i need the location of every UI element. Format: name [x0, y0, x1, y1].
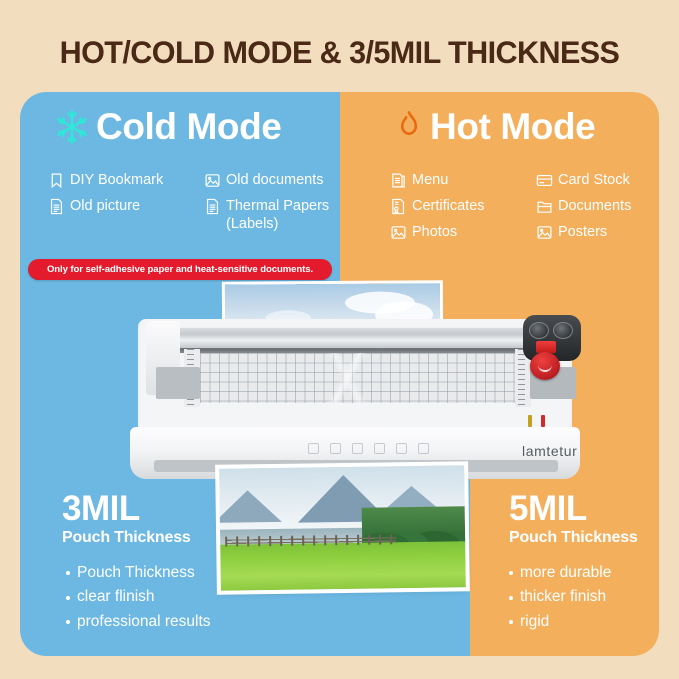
list-item-label: Thermal Papers (Labels) [226, 197, 329, 234]
panel-icon-3 [352, 443, 363, 454]
list-item-label: Old picture [70, 197, 140, 215]
landscape-photo-sheet [219, 465, 466, 590]
bullet-dot-icon [66, 620, 70, 624]
list-item-label: Posters [558, 223, 607, 241]
hot-mode-title: Hot Mode [430, 108, 595, 145]
list-item: Card Stock [536, 168, 659, 192]
hot-mode-header: Hot Mode [394, 108, 595, 145]
photo-meadow [220, 541, 466, 591]
list-item: professional results [66, 610, 211, 634]
infographic-root: HOT/COLD MODE & 3/5MIL THICKNESS Cold Mo… [0, 0, 679, 679]
list-item-label: thicker finish [520, 585, 606, 609]
modes-panel: Cold Mode DIY Bookmark Old documents O [20, 92, 659, 656]
list-item: rigid [509, 610, 638, 634]
red-rotary-knob[interactable] [530, 352, 560, 380]
stacked-pages-icon [390, 172, 407, 190]
list-item: Posters [536, 220, 659, 244]
cutter-dial-left-icon [529, 322, 549, 339]
cold-mode-header: Cold Mode [54, 108, 281, 145]
photo-mountain-left [219, 490, 282, 523]
brand-logo: lamtetur [522, 443, 577, 459]
image-icon [536, 224, 553, 242]
laminator-body: lamtetur [130, 319, 580, 479]
document-lines-icon [204, 198, 221, 216]
left-tray [156, 367, 200, 399]
card-icon [536, 172, 553, 190]
list-item: DIY Bookmark [48, 168, 198, 192]
list-item: Menu [390, 168, 530, 192]
page-title: HOT/COLD MODE & 3/5MIL THICKNESS [10, 34, 669, 71]
list-item: Thermal Papers (Labels) [204, 194, 354, 236]
folder-icon [536, 198, 553, 216]
list-item-label: DIY Bookmark [70, 171, 163, 189]
cutter-dial-right-icon [553, 322, 573, 339]
panel-icon-2 [330, 443, 341, 454]
list-item: Old documents [204, 168, 354, 192]
cold-mode-item-list: DIY Bookmark Old documents Old picture T… [48, 168, 348, 236]
list-item-label: Menu [412, 171, 448, 189]
cutting-grid-mat [200, 353, 515, 403]
list-item: Old picture [48, 194, 198, 236]
panel-icon-5 [396, 443, 407, 454]
certificate-icon [390, 198, 407, 216]
panel-icon-4 [374, 443, 385, 454]
image-icon [204, 172, 221, 190]
bookmark-icon [48, 172, 65, 190]
list-item: Documents [536, 194, 659, 218]
cutter-rail [164, 328, 564, 350]
list-item-label: Certificates [412, 197, 485, 215]
list-item-label: Old documents [226, 171, 324, 189]
image-icon [390, 224, 407, 242]
list-item: clear flinish [66, 585, 211, 609]
led-power-icon [541, 415, 545, 427]
flame-icon [394, 110, 424, 144]
list-item: thicker finish [509, 585, 638, 609]
list-item-label: clear flinish [77, 585, 155, 609]
snowflake-icon [54, 109, 90, 145]
laminator-deck [138, 319, 572, 437]
list-item-label: Card Stock [558, 171, 630, 189]
led-ready-icon [528, 415, 532, 427]
panel-icon-6 [418, 443, 429, 454]
list-item-label: rigid [520, 610, 549, 634]
bullet-dot-icon [509, 620, 513, 624]
cold-mode-title: Cold Mode [96, 108, 281, 145]
document-lines-icon [48, 198, 65, 216]
list-item-label: Photos [412, 223, 457, 241]
list-item: Certificates [390, 194, 530, 218]
bullet-dot-icon [66, 596, 70, 600]
cold-mode-warning-banner: Only for self-adhesive paper and heat-se… [28, 259, 332, 280]
bullet-dot-icon [509, 596, 513, 600]
panel-icon-1 [308, 443, 319, 454]
hot-mode-item-list: Menu Card Stock Certificates Documents [390, 168, 659, 244]
list-item: Photos [390, 220, 530, 244]
bullet-dot-icon [66, 571, 70, 575]
laminator-product-photo: lamtetur [130, 284, 580, 584]
control-icon-strip [308, 443, 429, 454]
status-led-group [528, 415, 545, 427]
list-item-label: professional results [77, 610, 211, 634]
list-item-label: Documents [558, 197, 631, 215]
